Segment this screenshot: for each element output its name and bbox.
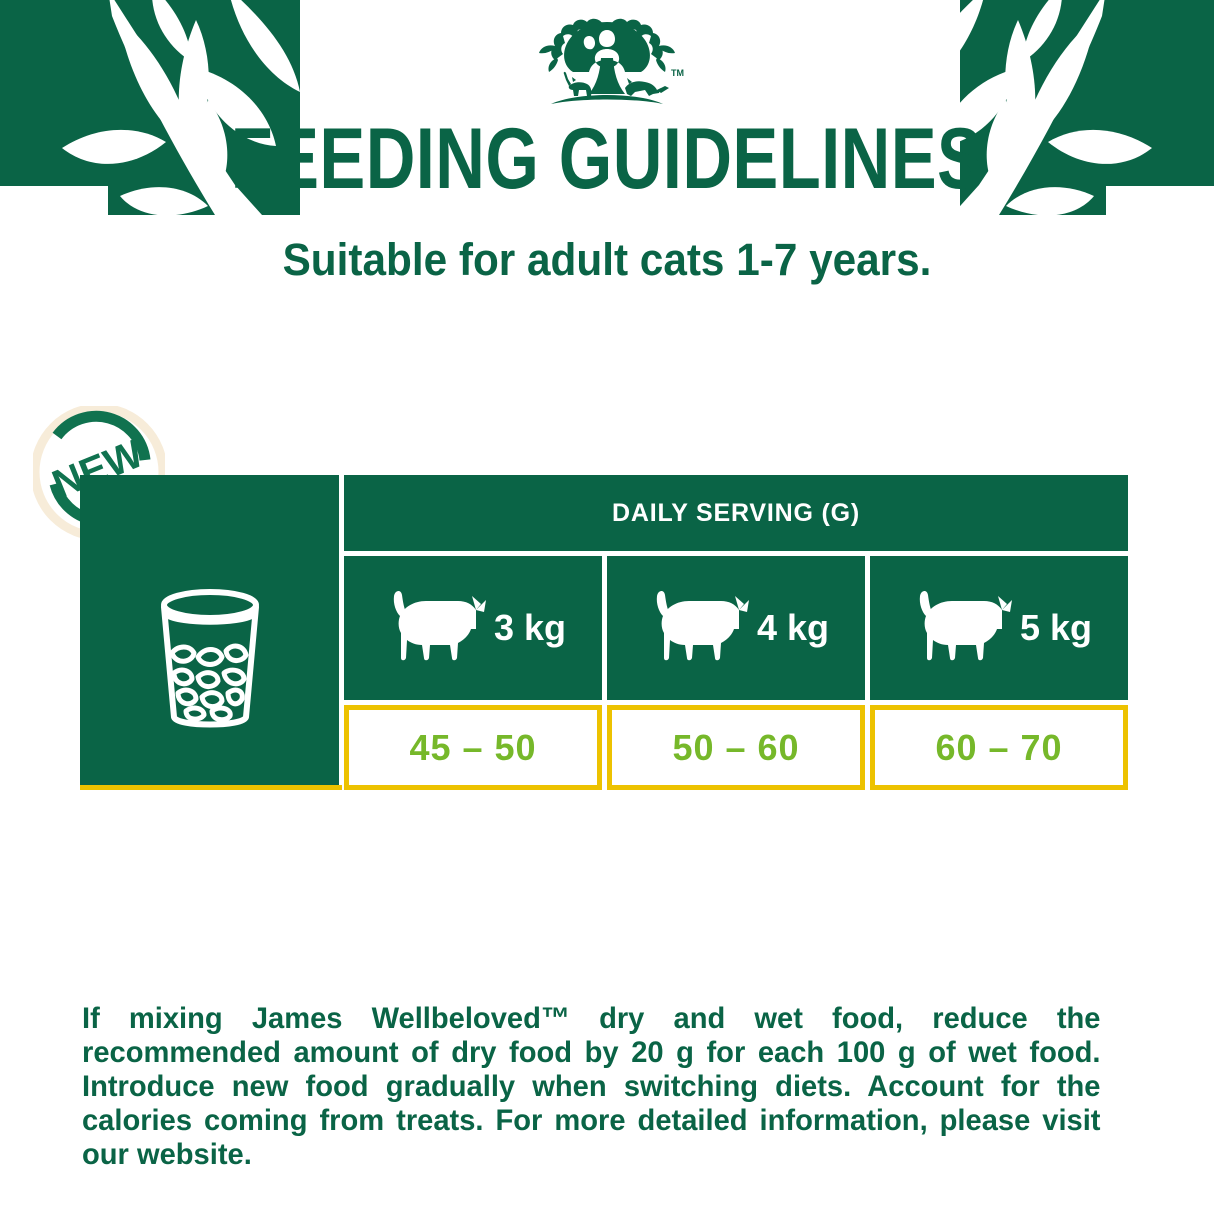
- serving-value-2: 50 – 60: [672, 727, 799, 769]
- cat-icon: [643, 588, 751, 668]
- feeding-guidelines-page: TM FEEDING GUIDELINES Suitable for adult…: [0, 0, 1214, 1214]
- page-title: FEEDING GUIDELINES: [121, 113, 1092, 205]
- serving-value-cell-2: 50 – 60: [607, 705, 865, 790]
- serving-value-3: 60 – 70: [935, 727, 1062, 769]
- page-subtitle: Suitable for adult cats 1-7 years.: [36, 234, 1177, 286]
- weight-cell-1: 3 kg: [344, 556, 602, 700]
- serving-block: DAILY SERVING (G) 3 kg: [344, 475, 1128, 790]
- serving-value-cell-1: 45 – 50: [344, 705, 602, 790]
- weight-cell-2: 4 kg: [607, 556, 865, 700]
- serving-value-cell-3: 60 – 70: [870, 705, 1128, 790]
- weight-label-2: 4 kg: [757, 607, 829, 649]
- weight-label-3: 5 kg: [1020, 607, 1092, 649]
- james-wellbeloved-tree-logo: TM: [529, 16, 685, 116]
- trademark-symbol: TM: [671, 68, 684, 78]
- feeding-table: DAILY SERVING (G) 3 kg: [80, 475, 1128, 790]
- measuring-cup-icon: [152, 585, 268, 735]
- serving-value-row: 45 – 50 50 – 60 60 – 70: [344, 705, 1128, 790]
- cat-icon: [906, 588, 1014, 668]
- footnote-text: If mixing James Wellbeloved™ dry and wet…: [82, 1002, 1101, 1172]
- cat-icon: [380, 588, 488, 668]
- cup-cell-underline: [80, 785, 342, 790]
- measuring-cup-cell: [80, 475, 339, 785]
- weight-cell-3: 5 kg: [870, 556, 1128, 700]
- weight-label-1: 3 kg: [494, 607, 566, 649]
- daily-serving-label: DAILY SERVING (G): [612, 499, 860, 528]
- daily-serving-header: DAILY SERVING (G): [344, 475, 1128, 551]
- serving-value-1: 45 – 50: [409, 727, 536, 769]
- weight-row: 3 kg 4 kg: [344, 556, 1128, 700]
